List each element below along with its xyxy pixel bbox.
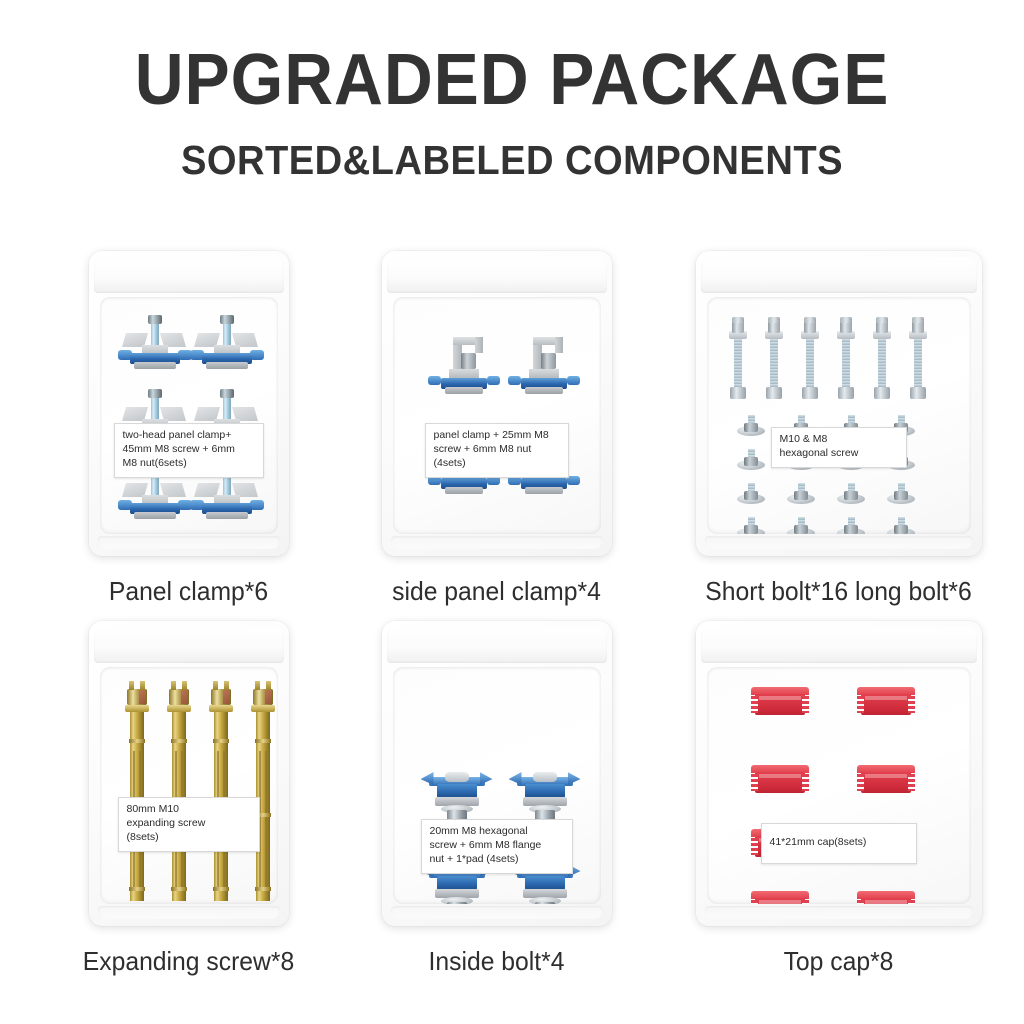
- bag-window: 20mm M8 hexagonal screw + 6mm M8 flange …: [393, 667, 601, 904]
- package-caption: side panel clamp*4: [338, 576, 654, 607]
- bag-contents-top-cap: 41*21mm cap(8sets): [707, 667, 971, 904]
- package-cell-expanding-screw: 80mm M10 expanding screw (8sets) Expandi…: [22, 613, 355, 983]
- expanding-anchor-item: [250, 681, 276, 904]
- package-label-sticker: M10 & M8 hexagonal screw: [771, 427, 907, 468]
- bag-contents-panel-clamp: two-head panel clamp+ 45mm M8 screw + 6m…: [100, 297, 278, 534]
- short-bolt-item: [837, 483, 865, 509]
- expanding-anchor-item: [208, 681, 234, 904]
- bag-window: panel clamp + 25mm M8 screw + 6mm M8 nut…: [393, 297, 601, 534]
- short-bolt-item: [787, 483, 815, 509]
- package-caption: Short bolt*16 long bolt*6: [680, 576, 996, 607]
- long-bolt-item: [909, 317, 927, 401]
- bag-contents-side-panel-clamp: panel clamp + 25mm M8 screw + 6mm M8 nut…: [393, 297, 601, 534]
- poly-bag: panel clamp + 25mm M8 screw + 6mm M8 nut…: [382, 251, 612, 556]
- short-bolt-item: [887, 517, 915, 534]
- package-caption: Top cap*8: [680, 946, 996, 977]
- long-bolt-item: [873, 317, 891, 401]
- package-label-sticker: 41*21mm cap(8sets): [761, 823, 917, 864]
- package-grid: two-head panel clamp+ 45mm M8 screw + 6m…: [0, 243, 1024, 983]
- panel-clamp-item: [122, 315, 188, 373]
- inside-bolt-item: [507, 771, 583, 825]
- poly-bag: M10 & M8 hexagonal screw: [696, 251, 982, 556]
- bag-contents-inside-bolt: 20mm M8 hexagonal screw + 6mm M8 flange …: [393, 667, 601, 904]
- package-label-sticker: two-head panel clamp+ 45mm M8 screw + 6m…: [114, 423, 264, 478]
- short-bolt-item: [737, 415, 765, 441]
- short-bolt-item: [737, 483, 765, 509]
- end-cap-item: [751, 765, 809, 795]
- long-bolt-item: [729, 317, 747, 401]
- short-bolt-item: [887, 483, 915, 509]
- package-label-sticker: 80mm M10 expanding screw (8sets): [118, 797, 260, 852]
- side-panel-clamp-item: [511, 337, 577, 403]
- side-panel-clamp-item: [431, 337, 497, 403]
- package-row-2: 80mm M10 expanding screw (8sets) Expandi…: [0, 613, 1024, 983]
- short-bolt-item: [787, 517, 815, 534]
- bag-contents-bolts: M10 & M8 hexagonal screw: [707, 297, 971, 534]
- package-cell-panel-clamp: two-head panel clamp+ 45mm M8 screw + 6m…: [22, 243, 355, 613]
- expanding-anchor-item: [166, 681, 192, 904]
- bag-window: two-head panel clamp+ 45mm M8 screw + 6m…: [100, 297, 278, 534]
- package-caption: Panel clamp*6: [30, 576, 346, 607]
- bag-window: 80mm M10 expanding screw (8sets): [100, 667, 278, 904]
- poly-bag: 41*21mm cap(8sets): [696, 621, 982, 926]
- package-caption: Inside bolt*4: [338, 946, 654, 977]
- end-cap-item: [857, 765, 915, 795]
- package-cell-side-panel-clamp: panel clamp + 25mm M8 screw + 6mm M8 nut…: [330, 243, 663, 613]
- long-bolt-item: [765, 317, 783, 401]
- package-label-sticker: 20mm M8 hexagonal screw + 6mm M8 flange …: [421, 819, 573, 874]
- expanding-anchor-item: [124, 681, 150, 904]
- short-bolt-item: [737, 517, 765, 534]
- header: UPGRADED PACKAGE SORTED&LABELED COMPONEN…: [0, 44, 1024, 184]
- short-bolt-item: [837, 517, 865, 534]
- inside-bolt-item: [419, 771, 495, 825]
- poly-bag: 80mm M10 expanding screw (8sets): [89, 621, 289, 926]
- bag-window: 41*21mm cap(8sets): [707, 667, 971, 904]
- bag-window: M10 & M8 hexagonal screw: [707, 297, 971, 534]
- bag-contents-expanding-screw: 80mm M10 expanding screw (8sets): [100, 667, 278, 904]
- short-bolt-item: [737, 449, 765, 475]
- package-cell-inside-bolt: 20mm M8 hexagonal screw + 6mm M8 flange …: [330, 613, 663, 983]
- long-bolt-item: [837, 317, 855, 401]
- package-cell-bolts: M10 & M8 hexagonal screw Short bolt*16 l…: [672, 243, 1005, 613]
- page-title: UPGRADED PACKAGE: [31, 44, 994, 116]
- product-package-infographic: UPGRADED PACKAGE SORTED&LABELED COMPONEN…: [0, 0, 1024, 1024]
- end-cap-item: [857, 687, 915, 717]
- long-bolt-item: [801, 317, 819, 401]
- poly-bag: 20mm M8 hexagonal screw + 6mm M8 flange …: [382, 621, 612, 926]
- end-cap-item: [751, 891, 809, 904]
- page-subtitle: SORTED&LABELED COMPONENTS: [36, 137, 988, 184]
- panel-clamp-item: [194, 315, 260, 373]
- end-cap-item: [751, 687, 809, 717]
- poly-bag: two-head panel clamp+ 45mm M8 screw + 6m…: [89, 251, 289, 556]
- package-label-sticker: panel clamp + 25mm M8 screw + 6mm M8 nut…: [425, 423, 569, 478]
- package-row-1: two-head panel clamp+ 45mm M8 screw + 6m…: [0, 243, 1024, 613]
- package-caption: Expanding screw*8: [30, 946, 346, 977]
- end-cap-item: [857, 891, 915, 904]
- package-cell-top-cap: 41*21mm cap(8sets) Top cap*8: [672, 613, 1005, 983]
